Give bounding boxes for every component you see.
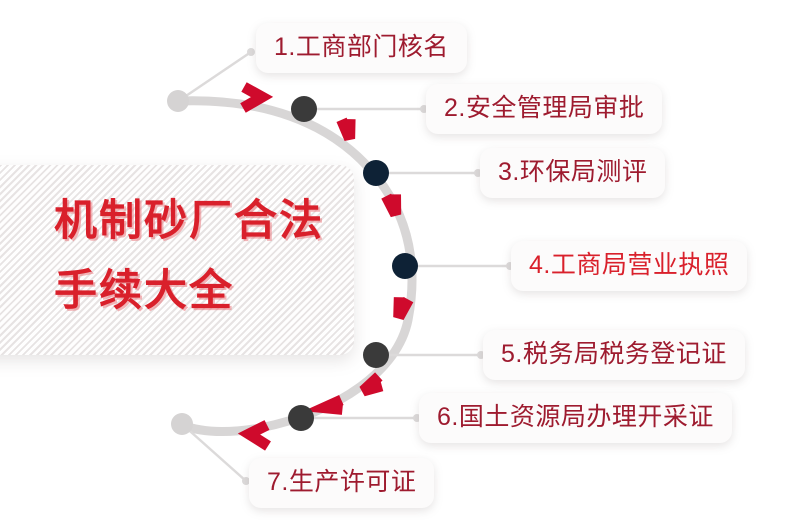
node-step-4 — [392, 253, 418, 279]
node-step-3 — [363, 160, 389, 186]
step-label-2[interactable]: 2.安全管理局审批 — [426, 84, 662, 134]
node-endpoint-bottom — [171, 413, 193, 435]
chevron-icon — [249, 425, 268, 446]
step-label-7[interactable]: 7.生产许可证 — [249, 458, 434, 508]
chevron-icon — [243, 87, 262, 108]
node-step-5 — [363, 342, 389, 368]
step-label-3[interactable]: 3.环保局测评 — [480, 148, 665, 198]
step-label-5[interactable]: 5.税务局税务登记证 — [483, 330, 745, 380]
step-label-6[interactable]: 6.国土资源局办理开采证 — [419, 393, 732, 443]
infographic-canvas: 机制砂厂合法 手续大全 — [0, 0, 800, 530]
arrow-chevrons — [243, 87, 410, 446]
step-label-4[interactable]: 4.工商局营业执照 — [511, 241, 747, 291]
step-label-1[interactable]: 1.工商部门核名 — [256, 23, 467, 73]
chevron-icon — [384, 193, 399, 214]
node-step-2 — [291, 96, 317, 122]
chevron-icon — [337, 117, 355, 139]
node-endpoint-top — [167, 90, 189, 112]
node-step-6 — [288, 405, 314, 431]
